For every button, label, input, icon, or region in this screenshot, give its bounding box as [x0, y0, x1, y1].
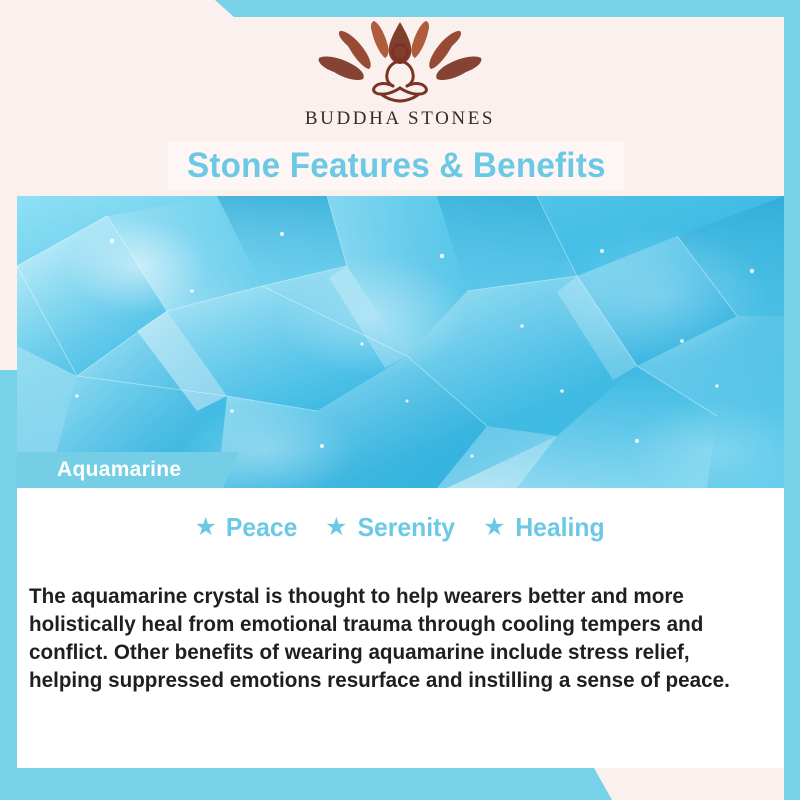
brand-logo: BUDDHA STONES [0, 20, 800, 130]
benefit-item-healing: ★ Healing [483, 512, 606, 543]
frame-bottom-right-fill [594, 768, 784, 800]
benefit-label: Peace [226, 512, 297, 543]
stone-name-label: Aquamarine [17, 452, 239, 488]
benefit-item-serenity: ★ Serenity [325, 512, 457, 543]
star-icon: ★ [195, 515, 217, 540]
frame-left-edge [0, 370, 17, 800]
benefit-label: Healing [515, 512, 604, 543]
benefit-label: Serenity [357, 512, 454, 543]
star-icon: ★ [483, 515, 505, 540]
stone-name-text: Aquamarine [57, 458, 181, 482]
benefits-row: ★ Peace ★ Serenity ★ Healing [17, 512, 784, 543]
title-banner: Stone Features & Benefits [168, 141, 624, 190]
benefit-item-peace: ★ Peace [195, 512, 300, 543]
page-title: Stone Features & Benefits [187, 146, 606, 186]
star-icon: ★ [325, 515, 347, 540]
brand-name: BUDDHA STONES [0, 108, 800, 130]
stone-description: The aquamarine crystal is thought to hel… [29, 582, 730, 694]
lotus-meditation-icon [315, 20, 485, 104]
stone-features-poster: Aquamarine [0, 0, 800, 800]
aquamarine-crystal-image [17, 196, 784, 488]
